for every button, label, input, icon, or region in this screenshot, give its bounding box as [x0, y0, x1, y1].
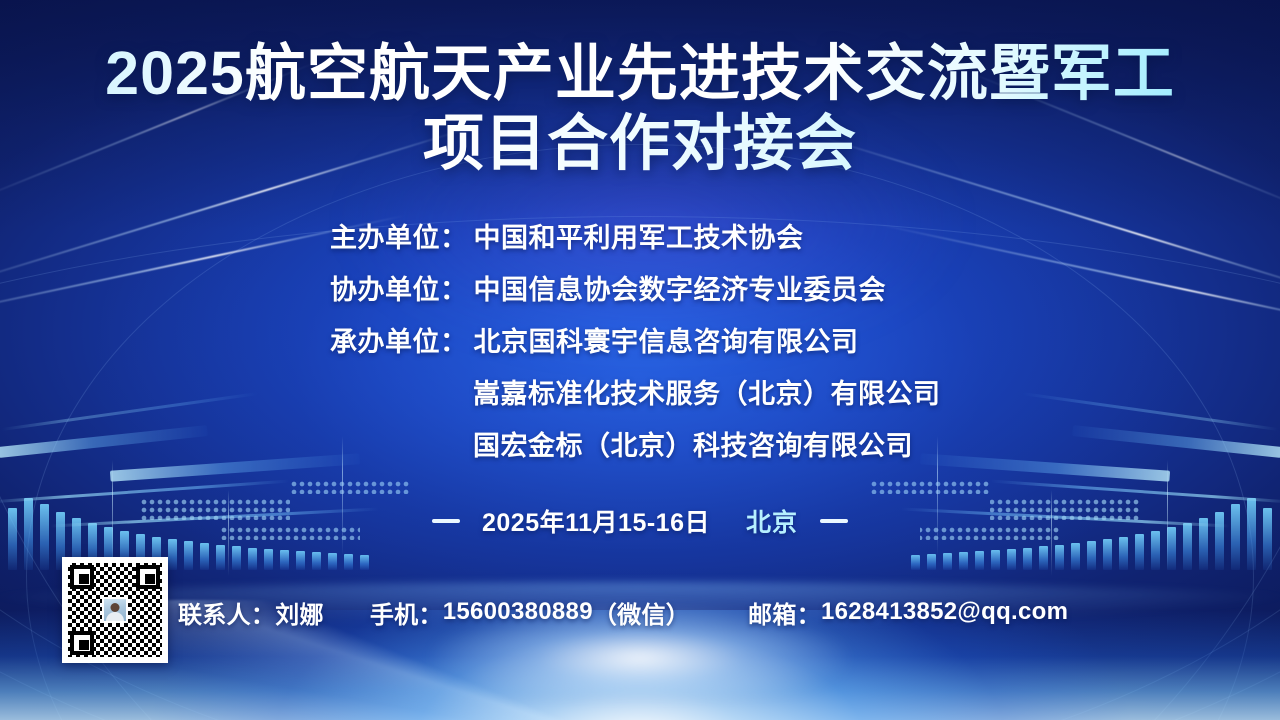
organizer-value-co-host: 中国信息协会数字经济专业委员会 [474, 268, 887, 307]
organizer-value-host: 中国和平利用军工技术协会 [474, 216, 804, 255]
contact-person-value: 刘娜 [275, 595, 324, 630]
dash-ornament-right [820, 519, 848, 523]
contact-phone-note: （微信） [593, 595, 690, 630]
title-line-1: 2025航空航天产业先进技术交流暨军工 [0, 38, 1280, 108]
organizer-value-undertaker-3: 国宏金标（北京）科技咨询有限公司 [473, 424, 913, 463]
event-date-location: 2025年11月15-16日 北京 [0, 503, 1280, 539]
organizer-row-undertaker: 承办单位： 北京国科寰宇信息咨询有限公司 [0, 320, 1280, 372]
organizer-label-co-host: 协办单位： [330, 268, 468, 307]
wechat-qr-code[interactable] [62, 557, 168, 663]
contact-email-value: 1628413852@qq.com [821, 598, 1068, 626]
contact-phone-label: 手机： [370, 595, 443, 630]
organizer-row-host: 主办单位： 中国和平利用军工技术协会 [0, 216, 1280, 268]
qr-center-avatar [102, 597, 128, 623]
organizer-list: 主办单位： 中国和平利用军工技术协会 协办单位： 中国信息协会数字经济专业委员会… [0, 216, 1280, 476]
organizer-value-undertaker: 北京国科寰宇信息咨询有限公司 [474, 320, 859, 359]
contact-phone-value: 15600380889 [443, 598, 593, 626]
event-city: 北京 [746, 503, 798, 539]
organizer-value-undertaker-2: 嵩嘉标准化技术服务（北京）有限公司 [473, 372, 941, 411]
qr-code-icon [68, 563, 162, 657]
organizer-row-co-host: 协办单位： 中国信息协会数字经济专业委员会 [0, 268, 1280, 320]
qr-finder-top-left [70, 565, 94, 589]
organizer-label-undertaker: 承办单位： [330, 320, 468, 359]
qr-finder-top-right [136, 565, 160, 589]
organizer-label-host: 主办单位： [330, 216, 468, 255]
contact-email-label: 邮箱： [748, 595, 821, 630]
qr-finder-bottom-left [70, 631, 94, 655]
contact-bar: 联系人： 刘娜 手机： 15600380889 （微信） 邮箱： 1628413… [0, 592, 1280, 632]
poster-title: 2025航空航天产业先进技术交流暨军工 项目合作对接会 [0, 38, 1280, 178]
contact-person-label: 联系人： [178, 595, 275, 630]
title-line-2: 项目合作对接会 [0, 108, 1280, 178]
organizer-row-undertaker-2: 嵩嘉标准化技术服务（北京）有限公司 [0, 372, 1280, 424]
dash-ornament-left [432, 519, 460, 523]
event-date: 2025年11月15-16日 [482, 503, 710, 539]
organizer-row-undertaker-3: 国宏金标（北京）科技咨询有限公司 [0, 424, 1280, 476]
conference-poster: 2025航空航天产业先进技术交流暨军工 项目合作对接会 主办单位： 中国和平利用… [0, 0, 1280, 720]
